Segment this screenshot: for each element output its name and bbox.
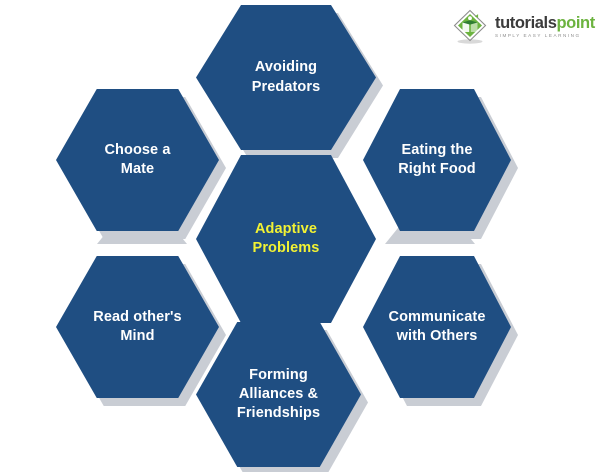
hex-line: Friendships xyxy=(237,405,320,421)
hex-label-avoiding-predators: Avoiding Predators xyxy=(227,58,346,97)
hex-label-read-others-mind: Read other's Mind xyxy=(84,308,192,347)
hex-line: Avoiding xyxy=(255,59,317,75)
hex-line: Right Food xyxy=(398,161,476,177)
tutorialspoint-logo-mark-icon xyxy=(452,9,488,45)
hex-line: Communicate xyxy=(389,309,486,325)
logo-wordmark: tutorialspoint xyxy=(495,15,595,32)
logo-word-tutorials: tutorials xyxy=(495,14,557,32)
hex-label-choose-a-mate: Choose a Mate xyxy=(82,141,194,180)
hex-line: Forming xyxy=(249,367,308,383)
hex-line: Alliances & xyxy=(239,386,318,402)
hex-label-communicate-with-others: Communicate with Others xyxy=(381,308,493,347)
logo-word-point: point xyxy=(557,14,595,32)
hex-line: Eating the xyxy=(401,142,472,158)
hex-line: Mind xyxy=(120,328,154,344)
logo-text-block: tutorialspoint SIMPLY EASY LEARNING xyxy=(495,15,595,39)
hex-line: with Others xyxy=(397,328,478,344)
hex-line: Adaptive xyxy=(255,221,317,237)
hex-line: Predators xyxy=(252,79,321,95)
hex-line: Mate xyxy=(121,161,154,177)
diagram-canvas: tutorialspoint SIMPLY EASY LEARNING Avoi… xyxy=(0,0,601,472)
hex-node-adaptive-problems[interactable]: Adaptive Problems xyxy=(196,155,376,323)
tutorialspoint-logo: tutorialspoint SIMPLY EASY LEARNING xyxy=(452,6,596,48)
hex-line: Problems xyxy=(253,240,320,256)
hex-label-forming-alliances-and-friendships: Forming Alliances & Friendships xyxy=(227,366,330,424)
logo-tagline: SIMPLY EASY LEARNING xyxy=(495,34,595,39)
hex-label-adaptive-problems: Adaptive Problems xyxy=(227,220,344,259)
hex-line: Read other's xyxy=(93,309,181,325)
hex-label-eating-the-right-food: Eating the Right Food xyxy=(385,141,489,180)
hex-line: Choose a xyxy=(104,142,170,158)
